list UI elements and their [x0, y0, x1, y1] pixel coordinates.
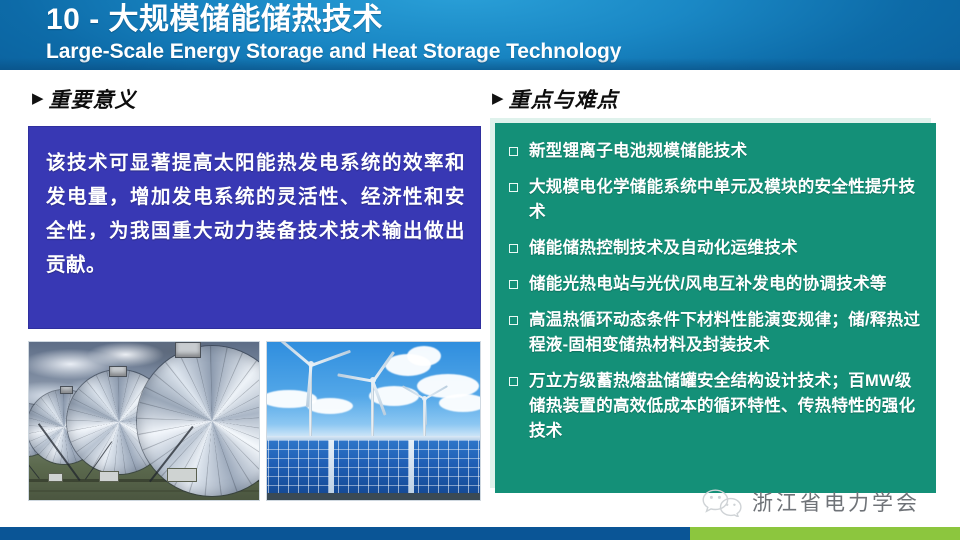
photo-strip	[28, 341, 481, 501]
wind-turbine-right	[423, 398, 426, 440]
key-points-panel-wrapper: 新型锂离子电池规模储能技术 大规模电化学储能系统中单元及模块的安全性提升技术 储…	[490, 118, 936, 493]
wechat-logo-icon	[700, 487, 744, 517]
equipment-base-box	[48, 473, 63, 482]
dish-receiver-1	[175, 342, 201, 358]
slide-root: 10 - 大规模储能储热技术 Large-Scale Energy Storag…	[0, 0, 960, 540]
key-points-list: 新型锂离子电池规模储能技术 大规模电化学储能系统中单元及模块的安全性提升技术 储…	[507, 139, 922, 444]
bottom-accent-bar	[0, 527, 960, 540]
solar-array-divider	[409, 440, 414, 500]
wechat-credit: 浙江省电力学会	[700, 487, 920, 517]
wind-turbine-left	[309, 364, 313, 438]
key-points-panel: 新型锂离子电池规模储能技术 大规模电化学储能系统中单元及模块的安全性提升技术 储…	[495, 123, 936, 493]
list-item-label: 万立方级蓄热熔盐储罐安全结构设计技术；百MW级储热装置的高效低成本的循环特性、传…	[529, 372, 915, 440]
cloud-shape	[307, 398, 353, 414]
hollow-square-icon	[509, 147, 518, 156]
turbine-blade	[310, 350, 350, 367]
section-heading-significance: ▶ 重要意义	[32, 84, 137, 114]
equipment-base-box	[167, 468, 197, 482]
list-item: 高温热循环动态条件下材料性能演变规律；储/释热过程液-固相变储热材料及封装技术	[507, 308, 922, 358]
significance-statement-text: 该技术可显著提高太阳能热发电系统的效率和发电量，增加发电系统的灵活性、经济性和安…	[46, 146, 465, 282]
list-item: 万立方级蓄热熔盐储罐安全结构设计技术；百MW级储热装置的高效低成本的循环特性、传…	[507, 369, 922, 444]
significance-statement-box: 该技术可显著提高太阳能热发电系统的效率和发电量，增加发电系统的灵活性、经济性和安…	[28, 126, 481, 329]
triangle-right-icon: ▶	[492, 91, 504, 106]
hollow-square-icon	[509, 244, 518, 253]
list-item-label: 新型锂离子电池规模储能技术	[529, 142, 747, 160]
list-item-label: 储能光热电站与光伏/风电互补发电的协调技术等	[529, 275, 887, 293]
page-title-english: Large-Scale Energy Storage and Heat Stor…	[46, 39, 621, 64]
equipment-base-box	[99, 471, 119, 482]
solar-panel-array	[266, 440, 481, 500]
triangle-right-icon: ▶	[32, 91, 44, 106]
list-item: 储能光热电站与光伏/风电互补发电的协调技术等	[507, 272, 922, 297]
list-item-label: 大规模电化学储能系统中单元及模块的安全性提升技术	[529, 178, 915, 221]
page-title-chinese: 10 - 大规模储能储热技术	[46, 1, 621, 39]
dish-receiver-2	[109, 366, 127, 377]
turbine-blade	[423, 399, 426, 425]
slide-header-banner: 10 - 大规模储能储热技术 Large-Scale Energy Storag…	[0, 0, 960, 70]
solar-array-base	[267, 493, 480, 500]
header-title-block: 10 - 大规模储能储热技术 Large-Scale Energy Storag…	[46, 1, 621, 64]
turbine-blade	[337, 374, 373, 383]
cloud-shape	[439, 394, 481, 412]
list-item: 储能储热控制技术及自动化运维技术	[507, 236, 922, 261]
list-item-label: 储能储热控制技术及自动化运维技术	[529, 239, 798, 257]
wind-turbines-and-solar-panels-photo	[266, 341, 481, 501]
section-heading-key-points: ▶ 重点与难点	[492, 84, 619, 114]
section-heading-significance-label: 重要意义	[49, 84, 137, 114]
list-item: 新型锂离子电池规模储能技术	[507, 139, 922, 164]
hollow-square-icon	[509, 316, 518, 325]
hollow-square-icon	[509, 377, 518, 386]
organization-name: 浙江省电力学会	[752, 487, 920, 517]
section-heading-key-points-label: 重点与难点	[509, 84, 619, 114]
wind-turbine-center	[371, 380, 375, 438]
hollow-square-icon	[509, 280, 518, 289]
turbine-blade	[278, 341, 312, 367]
bottom-bar-blue-segment	[0, 527, 690, 540]
list-item: 大规模电化学储能系统中单元及模块的安全性提升技术	[507, 175, 922, 225]
solar-dish-collectors-photo	[28, 341, 260, 501]
dish-receiver-3	[60, 386, 73, 394]
hollow-square-icon	[509, 183, 518, 192]
solar-array-divider	[329, 440, 334, 500]
cloud-shape	[407, 346, 441, 366]
list-item-label: 高温热循环动态条件下材料性能演变规律；储/释热过程液-固相变储热材料及封装技术	[529, 311, 920, 354]
bottom-bar-green-segment	[690, 527, 960, 540]
